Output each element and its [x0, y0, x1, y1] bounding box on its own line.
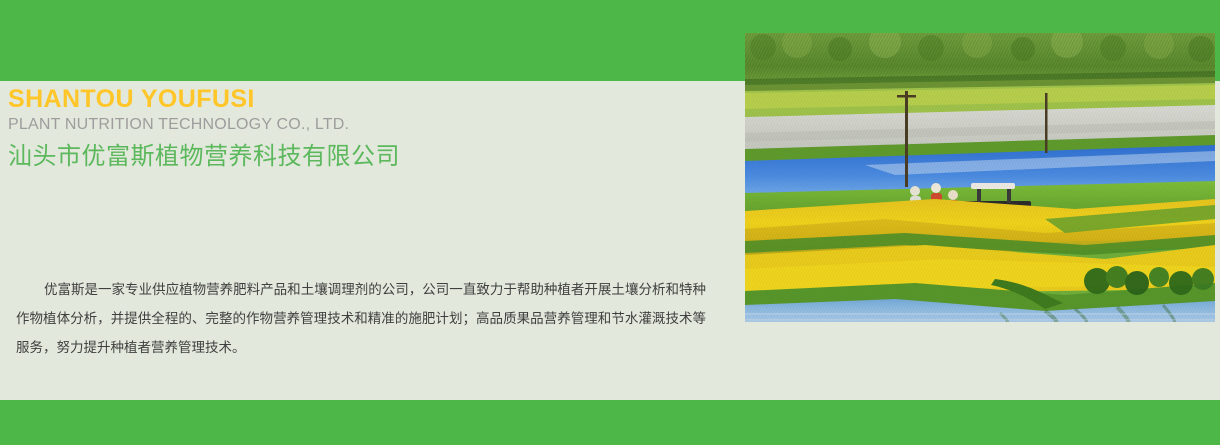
brand-name-en: SHANTOU YOUFUSI	[8, 86, 728, 113]
page-root: SHANTOU YOUFUSI PLANT NUTRITION TECHNOLO…	[0, 0, 1220, 445]
brand-tagline-en: PLANT NUTRITION TECHNOLOGY CO., LTD.	[8, 115, 728, 135]
rice-paddy-illustration	[745, 33, 1215, 322]
brand-block: SHANTOU YOUFUSI PLANT NUTRITION TECHNOLO…	[8, 86, 728, 171]
company-intro-paragraph: 优富斯是一家专业供应植物营养肥料产品和土壤调理剂的公司，公司一直致力于帮助种植者…	[16, 276, 706, 363]
rice-paddy-photo	[745, 33, 1215, 322]
brand-name-cn: 汕头市优富斯植物营养科技有限公司	[8, 141, 728, 171]
bottom-green-band	[0, 400, 1220, 445]
